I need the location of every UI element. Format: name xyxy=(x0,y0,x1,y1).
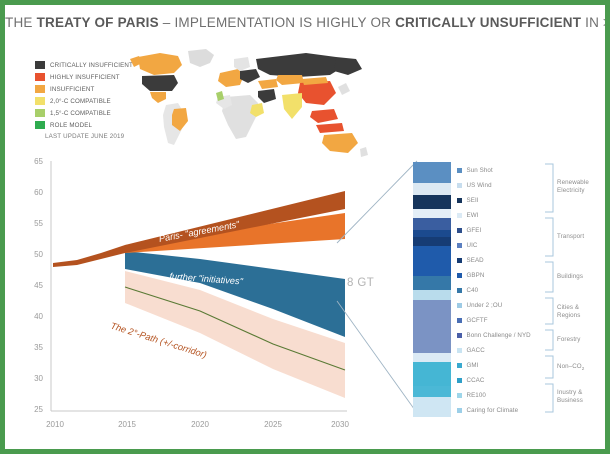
initiative-legend-item: GMI xyxy=(457,361,479,370)
y-tick-label: 65 xyxy=(34,157,43,166)
initiative-legend-item: GFEI xyxy=(457,226,481,235)
map-legend-label: 2,0°-C COMPATIBLE xyxy=(50,98,111,105)
initiative-label: Caring for Climate xyxy=(467,407,519,414)
stack-segment-c40 xyxy=(413,276,451,290)
category-label-industry-business: Inustry & Business xyxy=(557,389,583,405)
x-tick-label: 2020 xyxy=(191,420,209,429)
legend-swatch-icon xyxy=(457,303,462,308)
map-region-kazakh xyxy=(276,75,304,85)
infographic-frame: THE TREATY OF PARIS – IMPLEMENTATION IS … xyxy=(0,0,610,454)
y-tick-label: 25 xyxy=(34,405,43,414)
stack-segment-caring xyxy=(413,397,451,417)
category-bracket-lines xyxy=(543,160,610,416)
map-region-australia xyxy=(322,133,358,153)
legend-swatch-icon xyxy=(35,85,45,93)
initiative-legend-item: C40 xyxy=(457,286,478,295)
legend-swatch-icon xyxy=(35,109,45,117)
map-region-mexico xyxy=(150,92,166,103)
legend-swatch-icon xyxy=(35,61,45,69)
map-legend-item: ROLE MODEL xyxy=(35,120,145,130)
initiative-legend-item: SEII xyxy=(457,196,479,205)
category-line-2: Electricity xyxy=(557,187,585,194)
stack-segment-gbpn xyxy=(413,246,451,276)
initiatives-legend: Sun Shot US Wind SEII EWI GFEI UIC SEAD … xyxy=(457,162,542,414)
y-tick-label: 40 xyxy=(34,312,43,321)
legend-swatch-icon xyxy=(457,363,462,368)
map-region-india xyxy=(282,93,302,119)
initiative-label: EWI xyxy=(467,212,479,219)
initiative-legend-item: Bonn Challenge / NYD xyxy=(457,331,531,340)
stack-segment-sun-shot xyxy=(413,162,451,183)
category-line-1: Forestry xyxy=(557,336,581,343)
initiative-label: GFEI xyxy=(467,227,482,234)
map-region-russia-east xyxy=(334,57,362,75)
map-legend-label: ROLE MODEL xyxy=(50,122,92,129)
category-line-1: Transport xyxy=(557,233,584,240)
category-line-1: Renewable xyxy=(557,179,589,186)
map-legend-item: 2,0°-C COMPATIBLE xyxy=(35,96,145,106)
initiative-label: GMI xyxy=(467,362,479,369)
bracket-non-co2 xyxy=(545,356,553,378)
subscript-2: 2 xyxy=(582,366,585,371)
map-region-china xyxy=(298,81,336,105)
map-legend-label: HIGHLY INSUFFICIENT xyxy=(50,74,120,81)
initiative-legend-item: Under 2 ;OU xyxy=(457,301,502,310)
legend-swatch-icon xyxy=(457,273,462,278)
initiative-legend-item: UIC xyxy=(457,241,477,250)
y-tick-label: 55 xyxy=(34,219,43,228)
page-title: THE TREATY OF PARIS – IMPLEMENTATION IS … xyxy=(5,15,610,30)
annotation-co2-path-text: the CO₂-Path today xyxy=(160,181,242,206)
initiative-legend-item: RE100 xyxy=(457,391,486,400)
legend-swatch-icon xyxy=(457,318,462,323)
legend-swatch-icon xyxy=(457,408,462,413)
x-tick-label: 2025 xyxy=(264,420,282,429)
bracket-cities-regions xyxy=(545,298,553,324)
initiative-label: RE100 xyxy=(467,392,486,399)
legend-swatch-icon xyxy=(35,121,45,129)
initiative-label: GCFTF xyxy=(467,317,488,324)
y-tick-label: 60 xyxy=(34,188,43,197)
category-label-forestry: Forestry xyxy=(557,336,581,344)
bracket-renewable-electricity xyxy=(545,164,553,212)
initiative-legend-item: Caring for Climate xyxy=(457,406,518,415)
initiative-label: GACC xyxy=(467,347,485,354)
initiative-label: CCAC xyxy=(467,377,485,384)
legend-swatch-icon xyxy=(457,333,462,338)
title-part-1: THE xyxy=(5,15,37,30)
y-tick-label: 45 xyxy=(34,281,43,290)
initiative-label: Under 2 ;OU xyxy=(467,302,503,309)
legend-swatch-icon xyxy=(457,183,462,188)
map-legend-label: 1,5°-C COMPATIBLE xyxy=(50,110,111,117)
map-region-eu-dark xyxy=(240,69,260,83)
stack-segment-seii xyxy=(413,195,451,209)
category-label-renewable-electricity: Renewable Electricity xyxy=(557,179,589,195)
connector-line-top xyxy=(337,161,417,243)
legend-swatch-icon xyxy=(457,348,462,353)
initiative-legend-item: GBPN xyxy=(457,271,484,280)
legend-swatch-icon xyxy=(457,168,462,173)
category-line-1: Cities & xyxy=(557,304,579,311)
map-legend-label: CRITICALLY INSUFFICIENT xyxy=(50,62,133,69)
map-region-greenland xyxy=(188,49,214,67)
stack-segment-re100 xyxy=(413,386,451,397)
initiative-label: C40 xyxy=(467,287,479,294)
bracket-industry-business xyxy=(545,384,553,412)
stack-segment-under2 xyxy=(413,290,451,300)
initiative-legend-item: GCFTF xyxy=(457,316,488,325)
map-region-sea xyxy=(310,109,338,123)
y-tick-label: 50 xyxy=(34,250,43,259)
initiative-label: SEAD xyxy=(467,257,484,264)
map-region-indonesia xyxy=(316,123,344,133)
bracket-buildings xyxy=(545,262,553,292)
map-region-usa xyxy=(142,75,178,91)
legend-swatch-icon xyxy=(457,228,462,233)
legend-swatch-icon xyxy=(35,97,45,105)
map-legend-label: INSUFFICIENT xyxy=(50,86,94,93)
legend-swatch-icon xyxy=(457,213,462,218)
stack-segment-us-wind xyxy=(413,183,451,195)
annotation-co2-path: the CO₂-Path today xyxy=(160,181,242,206)
initiative-label: UIC xyxy=(467,242,478,249)
initiative-legend-item: US Wind xyxy=(457,181,492,190)
title-bold-treaty: TREATY OF PARIS xyxy=(37,15,159,30)
initiatives-stacked-bar xyxy=(413,162,451,414)
title-bold-unsufficient: CRITICALLY UNSUFFICIENT xyxy=(395,15,581,30)
map-legend-item: CRITICALLY INSUFFICIENT xyxy=(35,60,145,70)
category-label-transport: Transport xyxy=(557,233,584,241)
legend-swatch-icon xyxy=(457,393,462,398)
category-label-cities-regions: Cities & Regions xyxy=(557,304,580,320)
initiative-label: Sun Shot xyxy=(467,167,493,174)
category-brackets: Renewable Electricity Transport Building… xyxy=(543,160,610,416)
map-region-russia xyxy=(256,53,346,77)
last-update-label: LAST UPDATE JUNE 2019 xyxy=(45,133,124,140)
y-tick-label: 35 xyxy=(34,343,43,352)
legend-swatch-icon xyxy=(457,243,462,248)
title-part-3: IN >50% GDP xyxy=(581,15,610,30)
map-legend-item: INSUFFICIENT xyxy=(35,84,145,94)
map-region-canada xyxy=(138,53,182,75)
stack-segment-sead xyxy=(413,237,451,246)
bracket-transport xyxy=(545,218,553,256)
initiative-label: GBPN xyxy=(467,272,485,279)
map-region-turkey xyxy=(258,79,278,89)
stack-segment-gmi-ccac xyxy=(413,362,451,386)
legend-swatch-icon xyxy=(35,73,45,81)
y-tick-label: 30 xyxy=(34,374,43,383)
x-tick-label: 2030 xyxy=(331,420,349,429)
initiative-legend-item: SEAD xyxy=(457,256,484,265)
stack-segment-ewi xyxy=(413,209,451,218)
stack-segment-uic xyxy=(413,230,451,237)
map-region-japan xyxy=(338,83,350,95)
legend-swatch-icon xyxy=(457,198,462,203)
x-tick-label: 2015 xyxy=(118,420,136,429)
map-legend-item: HIGHLY INSUFFICIENT xyxy=(35,72,145,82)
legend-swatch-icon xyxy=(457,258,462,263)
bracket-forestry xyxy=(545,330,553,350)
category-label-buildings: Buildings xyxy=(557,273,583,281)
initiative-label: SEII xyxy=(467,197,479,204)
initiative-legend-item: CCAC xyxy=(457,376,484,385)
initiative-legend-item: Sun Shot xyxy=(457,166,493,175)
category-label-non-co2: Non–CO2 xyxy=(557,363,584,373)
category-line-1: Inustry & xyxy=(557,389,582,396)
category-line-2: Regions xyxy=(557,312,580,319)
x-tick-label: 2010 xyxy=(46,420,64,429)
initiative-label: US Wind xyxy=(467,182,492,189)
category-line-1: Non–CO xyxy=(557,363,582,370)
initiative-label: Bonn Challenge / NYD xyxy=(467,332,531,339)
stack-segment-gacc xyxy=(413,353,451,362)
map-legend-item: 1,5°-C COMPATIBLE xyxy=(35,108,145,118)
world-map-svg xyxy=(130,45,370,160)
category-line-1: Buildings xyxy=(557,273,583,280)
stack-segment-gfei xyxy=(413,218,451,230)
stack-segment-gcftf-bonn xyxy=(413,300,451,353)
category-line-2: Business xyxy=(557,397,583,404)
connector-line-bottom xyxy=(337,301,417,413)
map-region-saudi xyxy=(258,89,276,103)
map-region-scandinavia xyxy=(234,57,250,71)
title-part-2: – IMPLEMENTATION IS HIGHLY OR xyxy=(159,15,395,30)
map-legend: CRITICALLY INSUFFICIENT HIGHLY INSUFFICI… xyxy=(35,60,145,132)
initiative-legend-item: EWI xyxy=(457,211,479,220)
legend-swatch-icon xyxy=(457,288,462,293)
legend-swatch-icon xyxy=(457,378,462,383)
world-map xyxy=(130,45,370,160)
initiative-legend-item: GACC xyxy=(457,346,485,355)
